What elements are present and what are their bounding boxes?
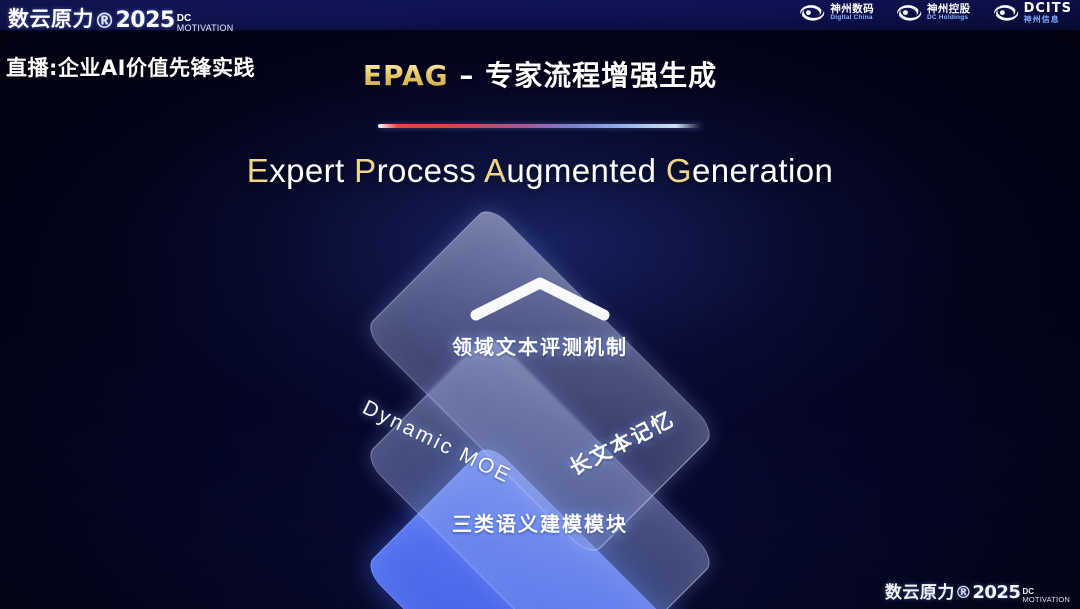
subtitle-word-rest: rocess (377, 152, 477, 189)
swirl-logo-icon (799, 2, 825, 24)
subtitle-word-rest: xpert (269, 152, 344, 189)
partner-logo-dc-holdings: 神州控股 DC Holdings (896, 2, 971, 24)
subtitle-initial: E (247, 152, 269, 189)
swirl-logo-icon (993, 2, 1019, 24)
title-acronym: EPAG (363, 59, 449, 92)
brand-logo-dcmotivation: DC MOTIVATION (1022, 588, 1070, 604)
subtitle-initial: P (354, 152, 376, 189)
subtitle-initial: G (666, 152, 692, 189)
partner-logo-row: 神州数码 Digital China 神州控股 DC Holdings (799, 2, 1072, 24)
partner-logo-digital-china: 神州数码 Digital China (799, 2, 874, 24)
partner-label: 神州数码 Digital China (830, 4, 874, 22)
partner-name-en: DC Holdings (927, 15, 971, 22)
subtitle-word-rest: eneration (692, 152, 833, 189)
partner-name-cn: DCITS (1024, 2, 1072, 16)
partner-name-en: Digital China (830, 15, 874, 22)
subtitle-word-rest: ugmented (506, 152, 656, 189)
slide-canvas: 数云原力 ® 2025 DC MOTIVATION 直播:企业AI价值先锋实践 … (0, 0, 1080, 609)
brand-logo-year: 2025 (972, 582, 1020, 603)
subtitle-word-expert: Expert (247, 152, 345, 189)
chevron-up-icon (466, 273, 614, 323)
brand-logo-cn: 数云原力 (885, 578, 955, 603)
brand-logo-year: 2025 (116, 8, 175, 33)
title-chinese: – 专家流程增强生成 (449, 59, 718, 92)
brand-registered-mark: ® (955, 583, 973, 603)
subtitle-word-process: Process (354, 152, 476, 189)
partner-label: DCITS 神州信息 (1024, 2, 1072, 24)
partner-logo-dcits: DCITS 神州信息 (993, 2, 1072, 24)
layer-top-label: 领域文本评测机制 (0, 331, 1080, 360)
title-divider (378, 124, 702, 128)
subtitle-word-augmented: Augmented (484, 152, 656, 189)
brand-logo-dcmotivation: DC MOTIVATION (177, 14, 234, 33)
brand-logo-cn: 数云原力 (8, 3, 94, 33)
brand-registered-mark: ® (94, 9, 116, 33)
partner-label: 神州控股 DC Holdings (927, 4, 971, 22)
brand-logo-watermark: 数云原力 ® 2025 DC MOTIVATION (885, 578, 1070, 603)
swirl-logo-icon (896, 2, 922, 24)
layer-bottom-label: 三类语义建模模块 (0, 508, 1080, 537)
subtitle-word-generation: Generation (666, 152, 833, 189)
partner-name-en: 神州信息 (1024, 16, 1072, 24)
live-broadcast-title: 直播:企业AI价值先锋实践 (6, 52, 255, 82)
page-subtitle: Expert Process Augmented Generation (0, 152, 1080, 190)
brand-logo-motivation: MOTIVATION (1022, 596, 1070, 604)
subtitle-initial: A (484, 152, 506, 189)
brand-logo-main: 数云原力 ® 2025 DC MOTIVATION (8, 3, 233, 33)
brand-logo-motivation: MOTIVATION (177, 24, 234, 33)
